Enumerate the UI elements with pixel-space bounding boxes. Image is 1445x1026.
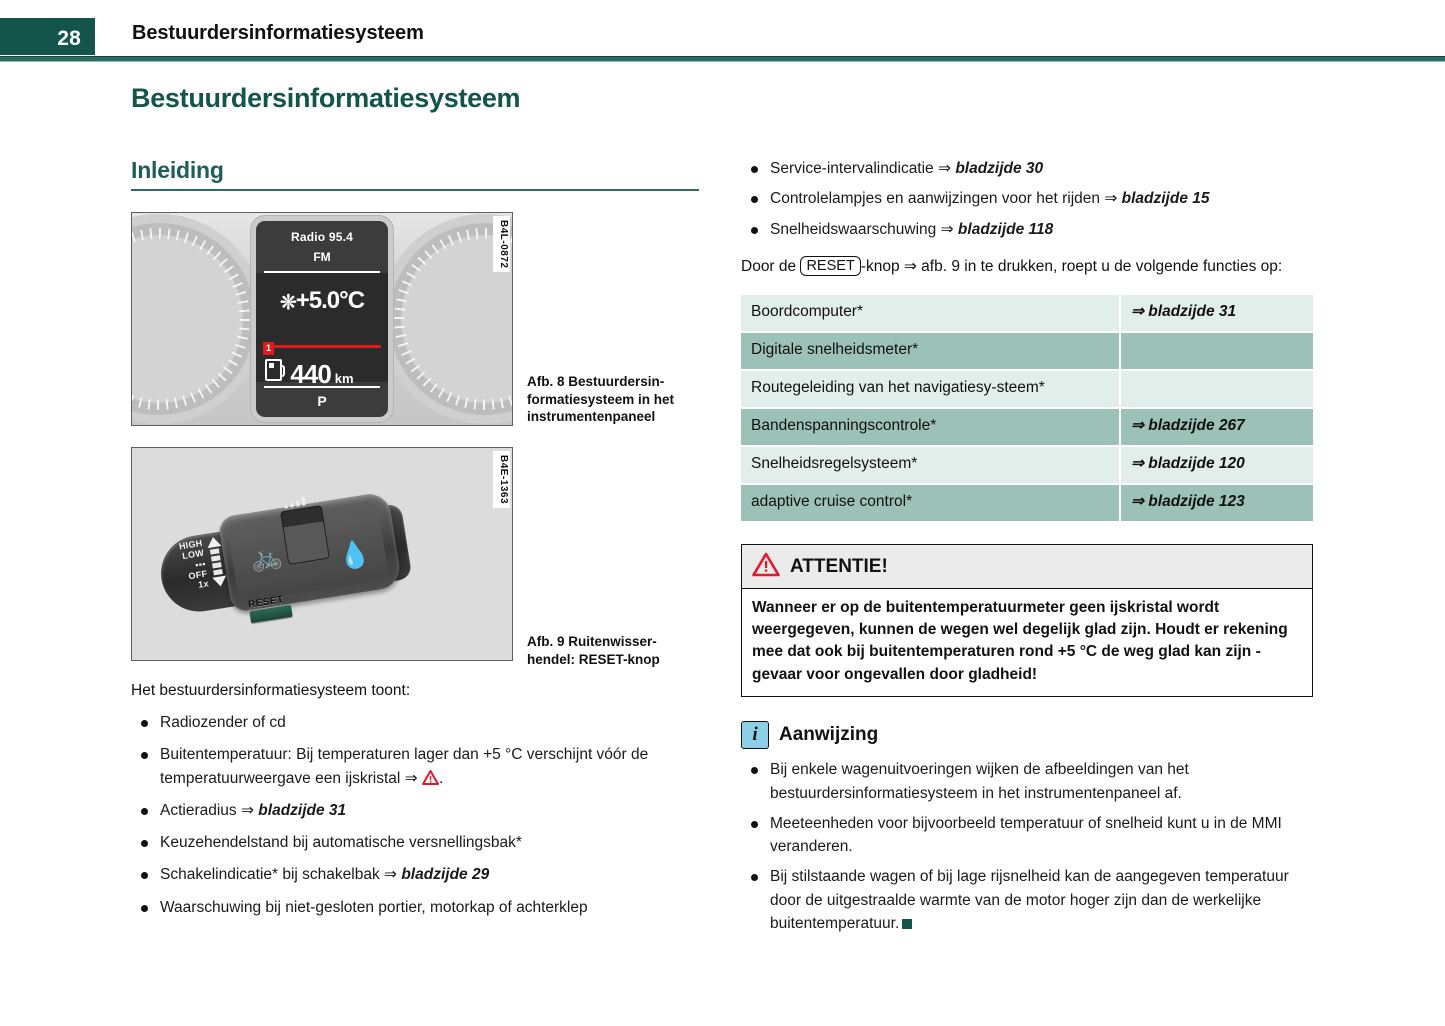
wiper-speed-scale: HIGH LOW ▪▪▪ OFF 1x bbox=[178, 535, 227, 593]
arrow-symbol: ⇒ bbox=[405, 770, 418, 787]
tachometer-dial bbox=[131, 214, 264, 424]
page-reference[interactable]: bladzijde 31 bbox=[258, 802, 346, 819]
note-title: Aanwijzing bbox=[779, 724, 878, 746]
note-header: i Aanwijzing bbox=[741, 721, 1313, 749]
end-of-section-marker bbox=[902, 919, 912, 929]
display-outside-temperature: ❊+5.0°C bbox=[263, 287, 381, 315]
display-gear-position: P bbox=[256, 393, 388, 409]
left-column: Bestuurdersinformatiesysteem Inleiding R… bbox=[131, 84, 723, 919]
table-row: Digitale snelheidsmeter* bbox=[741, 332, 1313, 370]
table-cell-function: Snelheidsregelsysteem* bbox=[741, 446, 1120, 484]
section-title: Inleiding bbox=[131, 158, 723, 183]
table-cell-reference[interactable]: ⇒ bladzijde 267 bbox=[1120, 408, 1313, 446]
attention-box: ATTENTIE! Wanneer er op de buitentempera… bbox=[741, 544, 1313, 698]
page-reference[interactable]: bladzijde 118 bbox=[958, 221, 1053, 238]
reset-key-chip[interactable]: RESET bbox=[800, 256, 860, 276]
list-item: Snelheidswaarschuwing ⇒ bladzijde 118 bbox=[741, 218, 1313, 241]
info-icon: i bbox=[741, 721, 769, 749]
intro-sentence: Het bestuurdersinformatiesysteem toont: bbox=[131, 679, 723, 702]
driver-information-display: Radio 95.4 FM ❊+5.0°C 1 440 km bbox=[256, 221, 388, 417]
windscreen-washer-icon: 💧 bbox=[336, 540, 372, 571]
display-radio-band: FM bbox=[256, 250, 388, 264]
list-item: Radiozender of cd bbox=[131, 711, 723, 734]
list-item: Actieradius ⇒ bladzijde 31 bbox=[131, 799, 723, 822]
attention-triangle-icon bbox=[752, 552, 780, 582]
table-cell-function: Bandenspanningscontrole* bbox=[741, 408, 1120, 446]
table-cell-reference[interactable] bbox=[1120, 332, 1313, 370]
table-cell-reference[interactable]: ⇒ bladzijde 120 bbox=[1120, 446, 1313, 484]
running-header-title: Bestuurdersinformatiesysteem bbox=[132, 22, 424, 45]
display-range: 440 km bbox=[256, 359, 388, 390]
features-bullet-list: Radiozender of cd Buitentemperatuur: Bij… bbox=[131, 711, 723, 919]
page-number: 28 bbox=[57, 27, 81, 51]
table-row: Bandenspanningscontrole* ⇒ bladzijde 267 bbox=[741, 408, 1313, 446]
list-item: Controlelampjes en aanwijzingen voor het… bbox=[741, 187, 1313, 210]
list-item: Keuzehendelstand bij automatische versne… bbox=[131, 831, 723, 854]
header-rule bbox=[0, 56, 1445, 62]
display-range-value: 440 bbox=[290, 359, 330, 390]
page-reference[interactable]: bladzijde 30 bbox=[955, 160, 1043, 177]
wiper-lever-art: HIGH LOW ▪▪▪ OFF 1x 🚲 💧 RESET bbox=[132, 448, 512, 660]
arrow-symbol: ⇒ bbox=[1104, 190, 1117, 207]
page-reference[interactable]: bladzijde 29 bbox=[401, 866, 489, 883]
arrow-symbol: ⇒ bbox=[938, 160, 951, 177]
display-temperature-value: +5.0°C bbox=[296, 287, 364, 314]
attention-title: ATTENTIE! bbox=[790, 556, 888, 578]
list-item: Service-intervalindicatie ⇒ bladzijde 30 bbox=[741, 157, 1313, 180]
list-item: Waarschuwing bij niet-gesloten portier, … bbox=[131, 896, 723, 919]
list-item: Meeteenheden voor bijvoorbeeld temperatu… bbox=[741, 812, 1313, 859]
page-reference[interactable]: bladzijde 15 bbox=[1122, 190, 1210, 207]
table-cell-reference[interactable]: ⇒ bladzijde 123 bbox=[1120, 484, 1313, 521]
table-cell-reference[interactable] bbox=[1120, 370, 1313, 408]
figure-code-8: B4L-0872 bbox=[493, 216, 510, 272]
table-row: Snelheidsregelsysteem* ⇒ bladzijde 120 bbox=[741, 446, 1313, 484]
references-bullet-list: Service-intervalindicatie ⇒ bladzijde 30… bbox=[741, 157, 1313, 241]
table-cell-function: Boordcomputer* bbox=[741, 295, 1120, 332]
arrow-symbol: ⇒ bbox=[241, 802, 254, 819]
lever-rocker-switch[interactable] bbox=[280, 505, 330, 565]
list-item: Bij enkele wagenuitvoeringen wijken de a… bbox=[741, 758, 1313, 805]
display-range-unit: km bbox=[335, 371, 354, 386]
figure-9-caption: Afb. 9 Ruitenwisser- hendel: RESET-knop bbox=[527, 633, 707, 668]
functions-reference-table: Boordcomputer* ⇒ bladzijde 31 Digitale s… bbox=[741, 295, 1313, 521]
note-bullet-list: Bij enkele wagenuitvoeringen wijken de a… bbox=[741, 758, 1313, 935]
snowflake-icon: ❊ bbox=[280, 292, 296, 314]
display-radio-station: Radio 95.4 bbox=[256, 230, 388, 244]
attention-body: Wanneer er op de buitentemperatuurmeter … bbox=[742, 589, 1312, 697]
list-item: Schakelindicatie* bij schakelbak ⇒ bladz… bbox=[131, 863, 723, 886]
page-number-block: 28 bbox=[0, 18, 95, 55]
arrow-down-icon bbox=[212, 575, 227, 587]
list-item: Bij stilstaande wagen of bij lage rijsne… bbox=[741, 865, 1313, 935]
warning-triangle-icon bbox=[422, 770, 439, 785]
display-red-bar bbox=[263, 345, 381, 348]
arrow-symbol: ⇒ bbox=[941, 221, 954, 238]
table-row: Boordcomputer* ⇒ bladzijde 31 bbox=[741, 295, 1313, 332]
table-row: adaptive cruise control* ⇒ bladzijde 123 bbox=[741, 484, 1313, 521]
attention-header: ATTENTIE! bbox=[742, 545, 1312, 589]
table-row: Routegeleiding van het navigatiesy-steem… bbox=[741, 370, 1313, 408]
figure-8-caption: Afb. 8 Bestuurdersin- formatiesysteem in… bbox=[527, 373, 707, 426]
windscreen-wiper-icon: 🚲 bbox=[248, 542, 284, 573]
right-column: Service-intervalindicatie ⇒ bladzijde 30… bbox=[741, 148, 1313, 935]
table-cell-function: adaptive cruise control* bbox=[741, 484, 1120, 521]
instrument-cluster-art: Radio 95.4 FM ❊+5.0°C 1 440 km bbox=[132, 213, 512, 425]
display-gear-badge: 1 bbox=[263, 342, 274, 355]
reset-instruction-paragraph: Door de RESET-knop ⇒ afb. 9 in te drukke… bbox=[741, 255, 1313, 278]
list-item: Buitentemperatuur: Bij temperaturen lage… bbox=[131, 743, 723, 790]
table-cell-function: Digitale snelheidsmeter* bbox=[741, 332, 1120, 370]
arrow-symbol: ⇒ bbox=[384, 866, 397, 883]
figure-instrument-cluster: Radio 95.4 FM ❊+5.0°C 1 440 km bbox=[131, 212, 513, 426]
table-cell-function: Routegeleiding van het navigatiesy-steem… bbox=[741, 370, 1120, 408]
arrow-up-icon bbox=[206, 536, 221, 548]
section-rule bbox=[131, 189, 699, 191]
table-cell-reference[interactable]: ⇒ bladzijde 31 bbox=[1120, 295, 1313, 332]
chapter-title: Bestuurdersinformatiesysteem bbox=[131, 84, 723, 114]
figure-code-9: B4E-1363 bbox=[493, 451, 510, 508]
page-header: 28 Bestuurdersinformatiesysteem bbox=[0, 18, 1445, 60]
figure-wiper-lever: HIGH LOW ▪▪▪ OFF 1x 🚲 💧 RESET bbox=[131, 447, 513, 661]
